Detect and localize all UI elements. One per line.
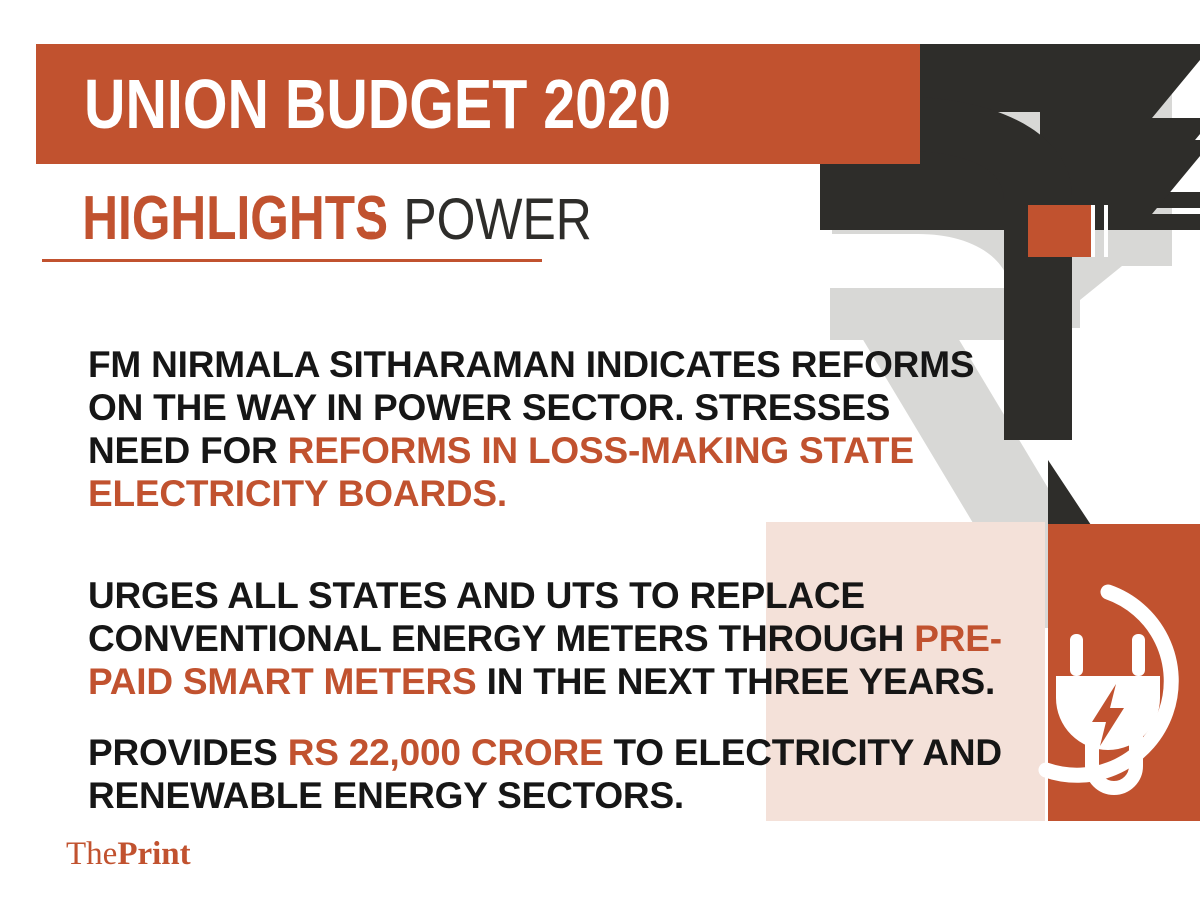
highlight-paragraph-1: FM NIRMALA SITHARAMAN INDICATES REFORMS … (88, 300, 988, 515)
decor-gap-line-right (1104, 205, 1108, 257)
highlight-paragraph-3: PROVIDES RS 22,000 CRORE TO ELECTRICITY … (88, 688, 1048, 817)
paragraph-3-plain-lead: PROVIDES (88, 732, 288, 773)
paragraph-3-highlight: RS 22,000 CRORE (288, 732, 604, 773)
logo-the: The (66, 836, 117, 872)
heading-topic: POWER (404, 191, 592, 249)
banner-title: UNION BUDGET 2020 (84, 69, 671, 139)
decor-gap-line-left (1091, 205, 1095, 257)
logo-print: Print (117, 836, 190, 872)
section-heading: HIGHLIGHTS : POWER (44, 188, 607, 250)
highlight-paragraph-2: URGES ALL STATES AND UTS TO REPLACE CONV… (88, 531, 1048, 703)
heading-underline (42, 259, 542, 262)
theprint-logo: ThePrint (66, 838, 191, 871)
power-plug-icon (1008, 580, 1200, 796)
title-banner: UNION BUDGET 2020 (36, 44, 920, 164)
paragraph-2-plain-lead: URGES ALL STATES AND UTS TO REPLACE CONV… (88, 575, 914, 659)
heading-highlights: HIGHLIGHTS (82, 188, 388, 250)
decor-block-orange-top (1028, 205, 1092, 257)
infographic-canvas: UNION BUDGET 2020 HIGHLIGHTS : POWER FM … (0, 0, 1200, 913)
